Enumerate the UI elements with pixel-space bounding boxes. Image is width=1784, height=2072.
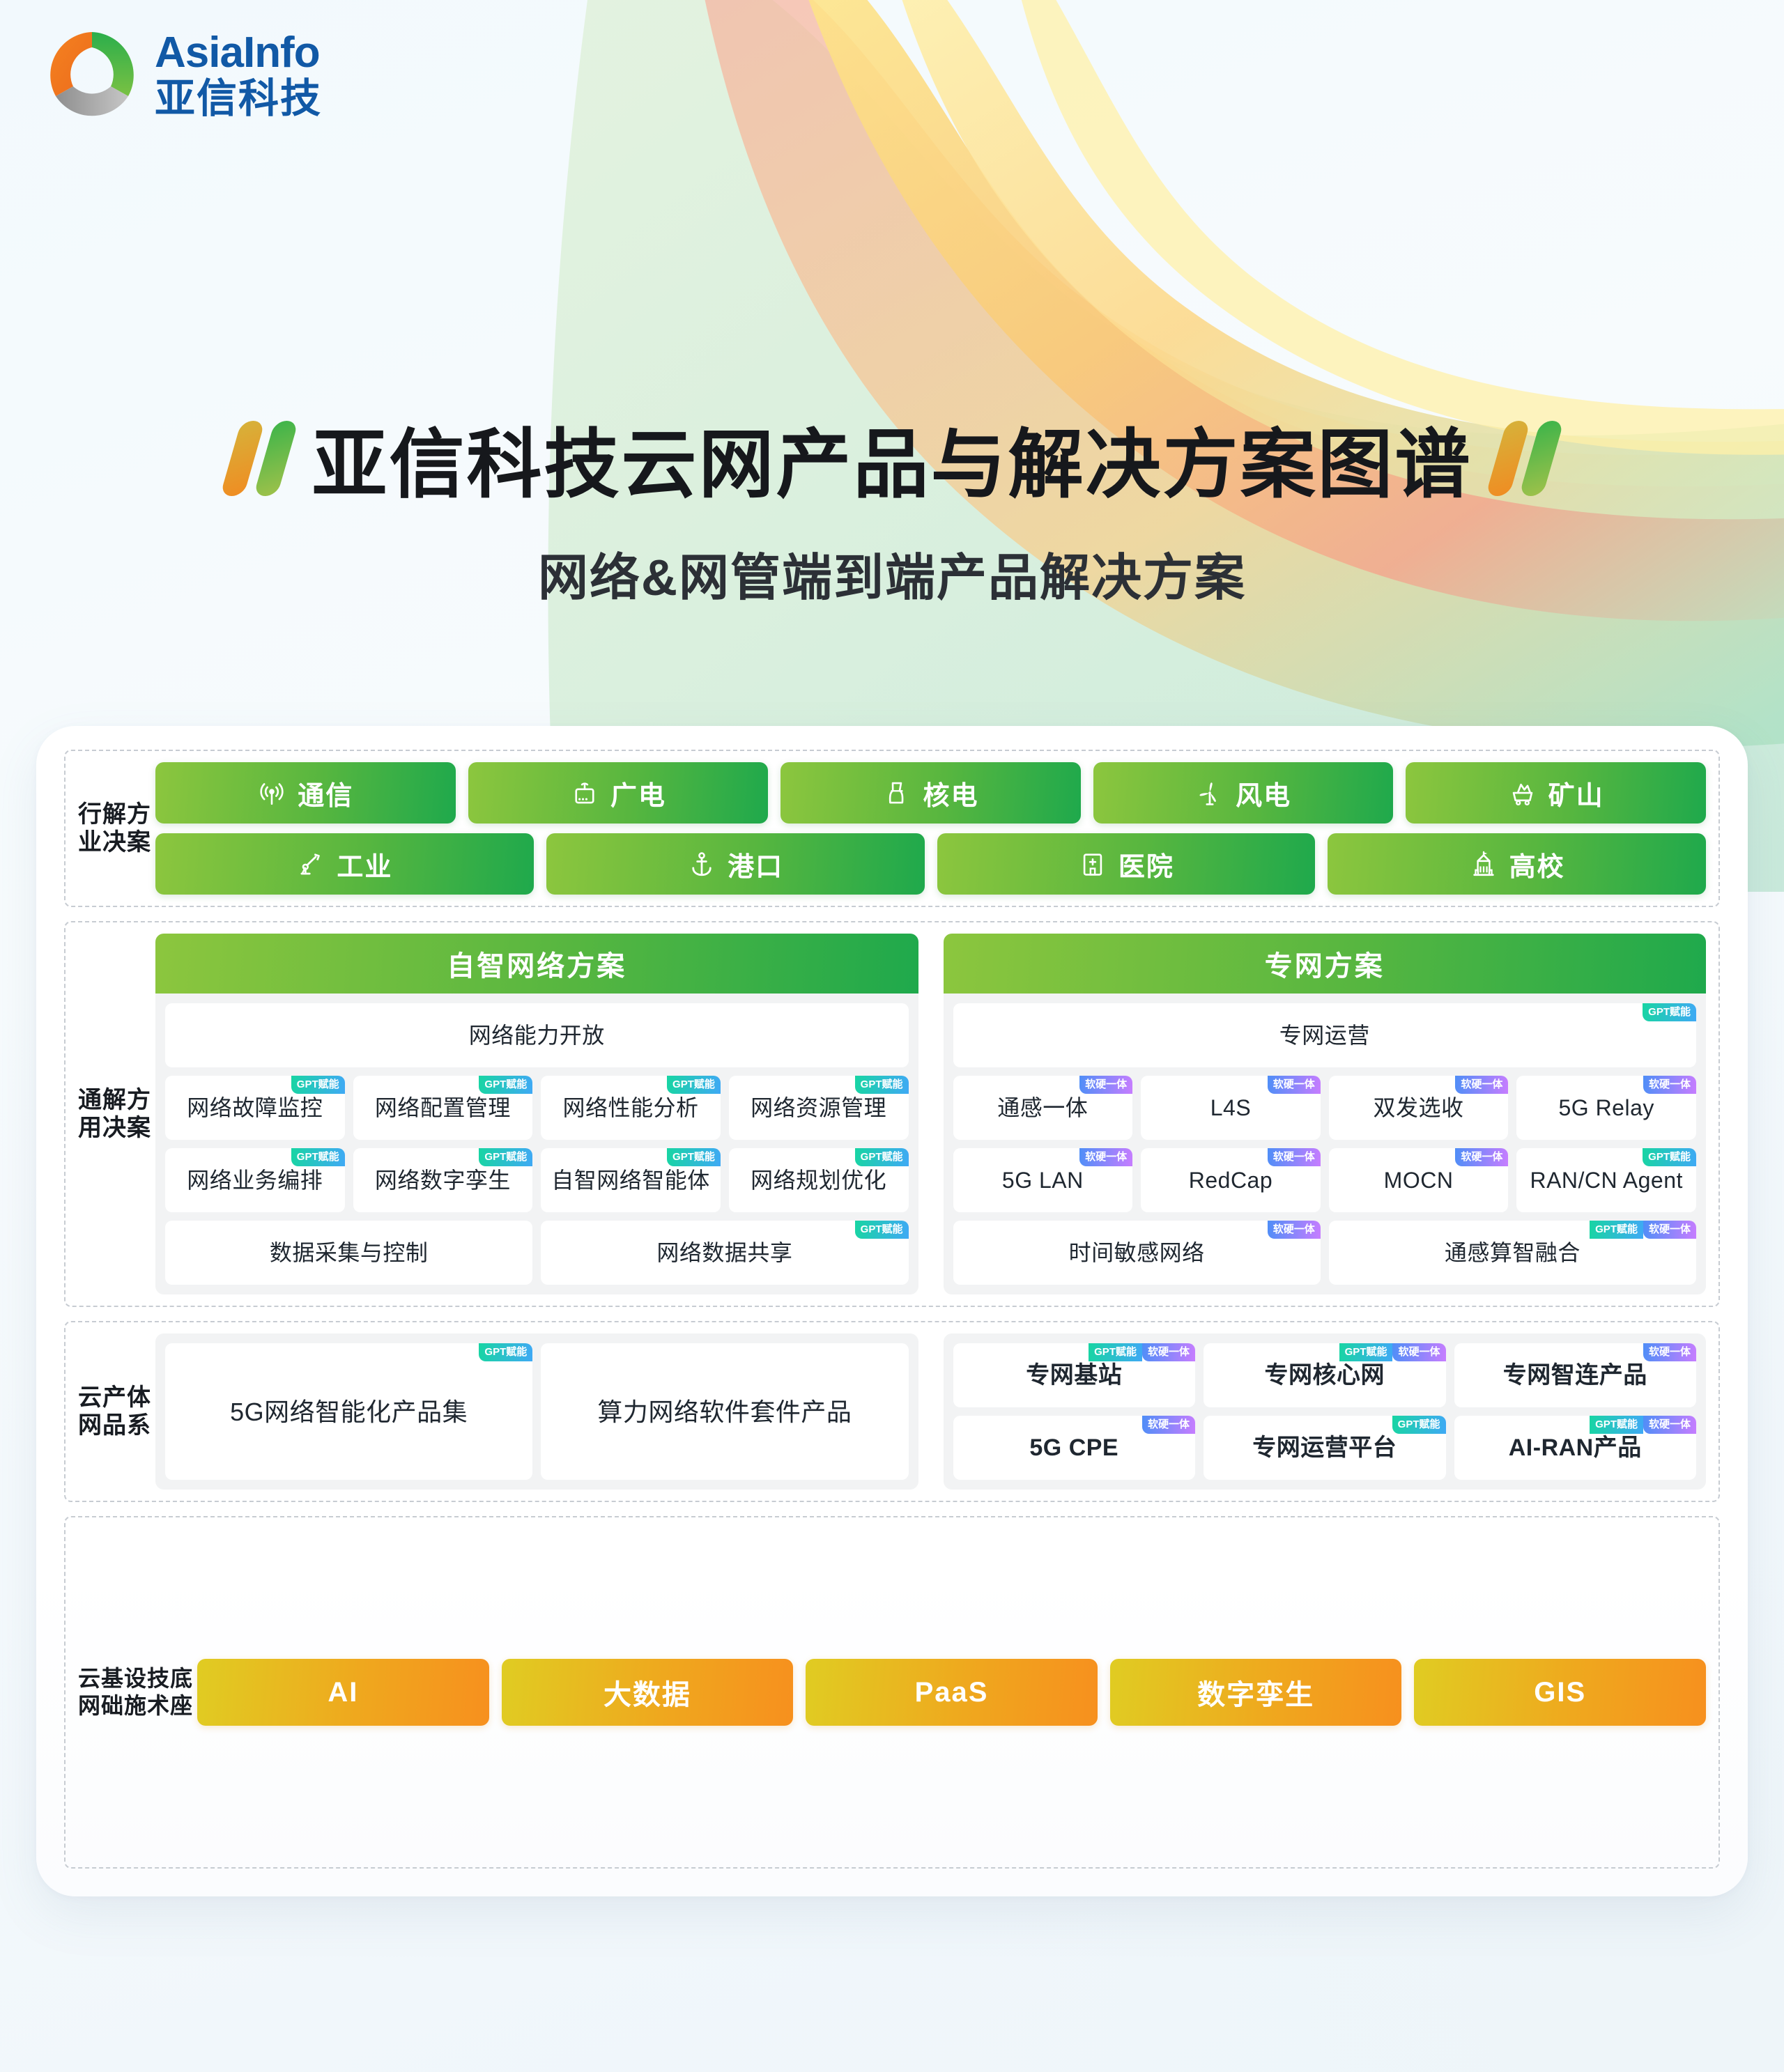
badge-group: GPT赋能软硬一体 xyxy=(1089,1343,1195,1361)
badge-group: GPT赋能 xyxy=(855,1148,909,1166)
solution-cell-label: 网络配置管理 xyxy=(375,1094,511,1122)
solution-cell[interactable]: GPT赋能网络故障监控 xyxy=(165,1076,345,1140)
badge-gpt: GPT赋能 xyxy=(855,1148,909,1166)
panel-title: 专网方案 xyxy=(944,934,1707,994)
badge-group: GPT赋能 xyxy=(667,1148,721,1166)
badge-hw: 软硬一体 xyxy=(1643,1343,1696,1361)
industry-card-核电[interactable]: 核电 xyxy=(780,762,1081,824)
infrastructure-card-label: GIS xyxy=(1534,1677,1586,1708)
badge-group: GPT赋能软硬一体 xyxy=(1590,1416,1696,1434)
badge-gpt: GPT赋能 xyxy=(1590,1221,1643,1239)
badge-group: GPT赋能 xyxy=(479,1076,532,1094)
industry-card-通信[interactable]: 通信 xyxy=(155,762,456,824)
solution-cell[interactable]: GPT赋能软硬一体专网核心网 xyxy=(1204,1343,1446,1407)
solution-cell[interactable]: 网络能力开放 xyxy=(165,1003,909,1067)
industry-card-广电[interactable]: 广电 xyxy=(468,762,769,824)
badge-gpt: GPT赋能 xyxy=(667,1148,721,1166)
infrastructure-card-label: AI xyxy=(328,1677,358,1708)
infrastructure-card-数字孪生[interactable]: 数字孪生 xyxy=(1110,1659,1402,1726)
infrastructure-card-label: 大数据 xyxy=(603,1672,691,1713)
solution-cell-label: 5G网络智能化产品集 xyxy=(230,1396,468,1428)
badge-gpt: GPT赋能 xyxy=(667,1076,721,1094)
badge-group: GPT赋能 xyxy=(291,1076,345,1094)
robot-arm-icon xyxy=(296,849,325,879)
panel-row: 软硬一体通感一体软硬一体L4S软硬一体双发选收软硬一体5G Relay xyxy=(953,1076,1697,1140)
solution-cell[interactable]: GPT赋能网络配置管理 xyxy=(353,1076,533,1140)
infrastructure-card-PaaS[interactable]: PaaS xyxy=(806,1659,1098,1726)
infrastructure-row: AI大数据PaaS数字孪生GIS xyxy=(197,1659,1706,1726)
solution-cell-label: 网络业务编排 xyxy=(187,1166,323,1194)
product-group-right: GPT赋能软硬一体专网基站GPT赋能软硬一体专网核心网软硬一体专网智连产品软硬一… xyxy=(944,1333,1707,1490)
infrastructure-card-label: 数字孪生 xyxy=(1197,1672,1314,1713)
asiainfo-logo-icon xyxy=(47,26,137,124)
section-label-line: 通用 xyxy=(78,1086,102,1142)
panel-row: GPT赋能专网运营 xyxy=(953,1003,1697,1067)
section-label-line: 产品 xyxy=(102,1384,127,1439)
cooling-tower-icon xyxy=(882,778,912,807)
badge-group: 软硬一体 xyxy=(1643,1343,1696,1361)
solution-cell[interactable]: GPT赋能软硬一体AI-RAN产品 xyxy=(1454,1416,1697,1480)
badge-gpt: GPT赋能 xyxy=(855,1076,909,1094)
badge-hw: 软硬一体 xyxy=(1455,1148,1508,1166)
badge-hw: 软硬一体 xyxy=(1142,1343,1195,1361)
badge-hw: 软硬一体 xyxy=(1643,1221,1696,1239)
solution-cell[interactable]: 软硬一体5G Relay xyxy=(1516,1076,1696,1140)
badge-hw: 软硬一体 xyxy=(1268,1148,1321,1166)
solution-panel: 自智网络方案网络能力开放GPT赋能网络故障监控GPT赋能网络配置管理GPT赋能网… xyxy=(155,934,918,1294)
diagram-board: 行业解决方案 通信广电核电风电矿山 工业港口医院高校 通用解决方案 自智网络方案… xyxy=(36,726,1748,1896)
solution-cell-label: 专网核心网 xyxy=(1265,1361,1385,1391)
section-label-product-system: 云网产品体系 xyxy=(78,1333,155,1490)
solution-cell[interactable]: GPT赋能网络业务编排 xyxy=(165,1148,345,1212)
page-subtitle: 网络&网管端到端产品解决方案 xyxy=(0,536,1784,610)
solution-cell-label: 网络能力开放 xyxy=(469,1021,605,1049)
hospital-icon xyxy=(1078,849,1107,879)
badge-hw: 软硬一体 xyxy=(1392,1343,1445,1361)
university-icon xyxy=(1469,849,1498,879)
wind-turbine-icon xyxy=(1195,778,1224,807)
badge-group: GPT赋能 xyxy=(479,1343,532,1361)
badge-hw: 软硬一体 xyxy=(1455,1076,1508,1094)
badge-group: 软硬一体 xyxy=(1643,1076,1696,1094)
badge-gpt: GPT赋能 xyxy=(1643,1003,1696,1021)
badge-group: GPT赋能 xyxy=(855,1076,909,1094)
industry-row-2: 工业港口医院高校 xyxy=(155,833,1706,895)
product-row: GPT赋能5G网络智能化产品集算力网络软件套件产品 xyxy=(165,1343,909,1480)
right-slash-decoration xyxy=(1496,421,1553,496)
badge-gpt: GPT赋能 xyxy=(291,1076,345,1094)
badge-gpt: GPT赋能 xyxy=(855,1221,909,1239)
solution-cell-label: 通感一体 xyxy=(997,1094,1088,1122)
badge-gpt: GPT赋能 xyxy=(1339,1343,1393,1361)
panel-row: GPT赋能网络业务编排GPT赋能网络数字孪生GPT赋能自智网络智能体GPT赋能网… xyxy=(165,1148,909,1212)
product-group-left: GPT赋能5G网络智能化产品集算力网络软件套件产品 xyxy=(155,1333,918,1490)
badge-hw: 软硬一体 xyxy=(1643,1416,1696,1434)
solution-cell-label: 网络规划优化 xyxy=(751,1166,886,1194)
solution-cell-label: RedCap xyxy=(1189,1166,1272,1194)
section-label-line: 体系 xyxy=(127,1384,151,1439)
general-solution-panels: 自智网络方案网络能力开放GPT赋能网络故障监控GPT赋能网络配置管理GPT赋能网… xyxy=(155,934,1706,1294)
section-label-general: 通用解决方案 xyxy=(78,934,155,1294)
badge-hw: 软硬一体 xyxy=(1079,1076,1132,1094)
badge-gpt: GPT赋能 xyxy=(1392,1416,1446,1434)
solution-cell[interactable]: GPT赋能自智网络智能体 xyxy=(541,1148,721,1212)
badge-group: 软硬一体 xyxy=(1142,1416,1195,1434)
badge-group: GPT赋能 xyxy=(667,1076,721,1094)
section-product-system: 云网产品体系 GPT赋能5G网络智能化产品集算力网络软件套件产品 GPT赋能软硬… xyxy=(64,1321,1720,1502)
solution-cell-label: RAN/CN Agent xyxy=(1530,1166,1682,1194)
badge-group: GPT赋能 xyxy=(1643,1003,1696,1021)
solution-cell[interactable]: 数据采集与控制 xyxy=(165,1221,532,1285)
solution-cell-label: 双发选收 xyxy=(1374,1094,1464,1122)
section-label-line: 技术 xyxy=(147,1665,170,1719)
solution-cell[interactable]: 软硬一体5G CPE xyxy=(953,1416,1196,1480)
solution-cell-label: 网络数据共享 xyxy=(656,1239,792,1267)
badge-group: 软硬一体 xyxy=(1455,1076,1508,1094)
badge-group: GPT赋能 xyxy=(291,1148,345,1166)
brand-name-cn: 亚信科技 xyxy=(155,79,322,119)
infographic-page: AsiaInfo 亚信科技 亚信科技云网产品与解决方案图谱 网络&网管端到端产品… xyxy=(0,0,1784,2072)
solution-cell[interactable]: GPT赋能专网运营 xyxy=(953,1003,1697,1067)
solution-cell-label: 通感算智融合 xyxy=(1445,1239,1581,1267)
solution-cell[interactable]: GPT赋能软硬一体通感算智融合 xyxy=(1329,1221,1696,1285)
badge-group: GPT赋能 xyxy=(479,1148,532,1166)
section-label-line: 云网 xyxy=(78,1384,102,1439)
badge-hw: 软硬一体 xyxy=(1268,1076,1321,1094)
solution-cell-label: 网络资源管理 xyxy=(751,1094,886,1122)
infrastructure-card-大数据[interactable]: 大数据 xyxy=(502,1659,794,1726)
badge-gpt: GPT赋能 xyxy=(1590,1416,1643,1434)
panel-row: 数据采集与控制GPT赋能网络数据共享 xyxy=(165,1221,909,1285)
badge-group: GPT赋能 xyxy=(1643,1148,1696,1166)
solution-cell[interactable]: 软硬一体通感一体 xyxy=(953,1076,1133,1140)
section-label-industry: 行业解决方案 xyxy=(78,762,155,895)
section-industry-solutions: 行业解决方案 通信广电核电风电矿山 工业港口医院高校 xyxy=(64,750,1720,907)
industry-card-label: 矿山 xyxy=(1548,774,1604,812)
industry-card-风电[interactable]: 风电 xyxy=(1093,762,1394,824)
section-label-line: 方案 xyxy=(127,801,151,856)
solution-cell-label: MOCN xyxy=(1384,1166,1454,1194)
badge-group: 软硬一体 xyxy=(1079,1148,1132,1166)
solution-cell[interactable]: GPT赋能软硬一体专网基站 xyxy=(953,1343,1196,1407)
panel-body: GPT赋能专网运营软硬一体通感一体软硬一体L4S软硬一体双发选收软硬一体5G R… xyxy=(944,994,1707,1294)
panel-row: 软硬一体5G LAN软硬一体RedCap软硬一体MOCNGPT赋能RAN/CN … xyxy=(953,1148,1697,1212)
industry-card-高校[interactable]: 高校 xyxy=(1328,833,1706,895)
solution-cell[interactable]: GPT赋能5G网络智能化产品集 xyxy=(165,1343,532,1480)
brand-name-en: AsiaInfo xyxy=(155,31,322,75)
broadcast-box-icon xyxy=(570,778,599,807)
badge-group: GPT赋能软硬一体 xyxy=(1590,1221,1696,1239)
solution-cell-label: 网络故障监控 xyxy=(187,1094,323,1122)
solution-cell[interactable]: 软硬一体RedCap xyxy=(1141,1148,1321,1212)
panel-body: 网络能力开放GPT赋能网络故障监控GPT赋能网络配置管理GPT赋能网络性能分析G… xyxy=(155,994,918,1294)
solution-cell[interactable]: GPT赋能网络规划优化 xyxy=(729,1148,909,1212)
badge-gpt: GPT赋能 xyxy=(479,1343,532,1361)
solution-cell-label: 专网基站 xyxy=(1026,1361,1122,1391)
signal-tower-icon xyxy=(257,778,286,807)
panel-row: 软硬一体时间敏感网络GPT赋能软硬一体通感算智融合 xyxy=(953,1221,1697,1285)
solution-cell[interactable]: 软硬一体时间敏感网络 xyxy=(953,1221,1321,1285)
industry-card-label: 高校 xyxy=(1509,845,1565,883)
infrastructure-card-label: PaaS xyxy=(915,1677,989,1708)
solution-cell[interactable]: 软硬一体专网智连产品 xyxy=(1454,1343,1697,1407)
badge-gpt: GPT赋能 xyxy=(479,1148,532,1166)
badge-hw: 软硬一体 xyxy=(1643,1076,1696,1094)
solution-cell-label: 5G LAN xyxy=(1002,1166,1084,1194)
badge-hw: 软硬一体 xyxy=(1079,1148,1132,1166)
left-slash-decoration xyxy=(231,421,288,496)
badge-gpt: GPT赋能 xyxy=(1643,1148,1696,1166)
solution-cell[interactable]: 算力网络软件套件产品 xyxy=(541,1343,908,1480)
badge-group: 软硬一体 xyxy=(1455,1148,1508,1166)
industry-card-港口[interactable]: 港口 xyxy=(546,833,925,895)
infrastructure-card-AI[interactable]: AI xyxy=(197,1659,489,1726)
solution-cell-label: L4S xyxy=(1210,1094,1251,1122)
industry-card-label: 工业 xyxy=(337,845,392,883)
panel-title: 自智网络方案 xyxy=(155,934,918,994)
section-label-line: 基础 xyxy=(101,1665,124,1719)
section-infrastructure: 云网基础设施技术底座 AI大数据PaaS数字孪生GIS xyxy=(64,1516,1720,1869)
solution-cell-label: 网络数字孪生 xyxy=(375,1166,511,1194)
solution-cell[interactable]: GPT赋能RAN/CN Agent xyxy=(1516,1148,1696,1212)
brand-logo: AsiaInfo 亚信科技 xyxy=(47,26,322,124)
badge-group: GPT赋能 xyxy=(855,1221,909,1239)
industry-card-label: 通信 xyxy=(298,774,353,812)
title-block: 亚信科技云网产品与解决方案图谱 网络&网管端到端产品解决方案 xyxy=(0,404,1784,610)
product-row: GPT赋能软硬一体专网基站GPT赋能软硬一体专网核心网软硬一体专网智连产品 xyxy=(953,1343,1697,1407)
solution-cell-label: 专网运营 xyxy=(1279,1021,1370,1049)
solution-cell-label: 5G Relay xyxy=(1558,1094,1654,1122)
section-label-line: 解决 xyxy=(102,1086,127,1142)
section-label-line: 底座 xyxy=(170,1665,193,1719)
solution-cell[interactable]: GPT赋能网络数字孪生 xyxy=(353,1148,533,1212)
industry-card-label: 广电 xyxy=(610,774,666,812)
infrastructure-card-GIS[interactable]: GIS xyxy=(1414,1659,1706,1726)
industry-card-label: 港口 xyxy=(728,845,783,883)
section-label-line: 行业 xyxy=(78,801,102,856)
industry-card-矿山[interactable]: 矿山 xyxy=(1406,762,1706,824)
badge-group: 软硬一体 xyxy=(1079,1076,1132,1094)
badge-hw: 软硬一体 xyxy=(1268,1221,1321,1239)
badge-hw: 软硬一体 xyxy=(1142,1416,1195,1434)
badge-gpt: GPT赋能 xyxy=(1089,1343,1142,1361)
badge-group: GPT赋能软硬一体 xyxy=(1339,1343,1446,1361)
section-general-solutions: 通用解决方案 自智网络方案网络能力开放GPT赋能网络故障监控GPT赋能网络配置管… xyxy=(64,921,1720,1307)
solution-cell[interactable]: GPT赋能网络数据共享 xyxy=(541,1221,908,1285)
section-label-line: 方案 xyxy=(127,1086,151,1142)
section-label-line: 云网 xyxy=(78,1665,101,1719)
section-label-infrastructure: 云网基础设施技术底座 xyxy=(78,1529,197,1856)
mine-cart-icon xyxy=(1508,778,1537,807)
solution-cell-label: AI-RAN产品 xyxy=(1509,1433,1642,1463)
section-label-line: 解决 xyxy=(102,801,127,856)
solution-cell-label: 专网运营平台 xyxy=(1252,1433,1397,1463)
badge-group: 软硬一体 xyxy=(1268,1221,1321,1239)
industry-card-医院[interactable]: 医院 xyxy=(937,833,1316,895)
badge-gpt: GPT赋能 xyxy=(291,1148,345,1166)
solution-cell[interactable]: 软硬一体MOCN xyxy=(1329,1148,1509,1212)
solution-cell[interactable]: 软硬一体双发选收 xyxy=(1329,1076,1509,1140)
industry-card-label: 医院 xyxy=(1118,845,1174,883)
solution-cell[interactable]: GPT赋能网络性能分析 xyxy=(541,1076,721,1140)
solution-cell-label: 专网智连产品 xyxy=(1503,1361,1647,1391)
solution-cell-label: 网络性能分析 xyxy=(563,1094,699,1122)
industry-card-工业[interactable]: 工业 xyxy=(155,833,534,895)
industry-card-label: 核电 xyxy=(923,774,978,812)
panel-row: 网络能力开放 xyxy=(165,1003,909,1067)
solution-cell[interactable]: GPT赋能专网运营平台 xyxy=(1204,1416,1446,1480)
badge-gpt: GPT赋能 xyxy=(479,1076,532,1094)
anchor-icon xyxy=(687,849,716,879)
solution-cell-label: 数据采集与控制 xyxy=(270,1239,429,1267)
solution-cell-label: 算力网络软件套件产品 xyxy=(597,1396,852,1428)
product-row: 软硬一体5G CPEGPT赋能专网运营平台GPT赋能软硬一体AI-RAN产品 xyxy=(953,1416,1697,1480)
solution-cell[interactable]: 软硬一体L4S xyxy=(1141,1076,1321,1140)
page-title: 亚信科技云网产品与解决方案图谱 xyxy=(312,404,1472,513)
panel-row: GPT赋能网络故障监控GPT赋能网络配置管理GPT赋能网络性能分析GPT赋能网络… xyxy=(165,1076,909,1140)
badge-group: 软硬一体 xyxy=(1268,1076,1321,1094)
solution-cell-label: 5G CPE xyxy=(1029,1433,1118,1463)
solution-cell[interactable]: GPT赋能网络资源管理 xyxy=(729,1076,909,1140)
badge-group: 软硬一体 xyxy=(1268,1148,1321,1166)
industry-card-label: 风电 xyxy=(1236,774,1291,812)
solution-panel: 专网方案GPT赋能专网运营软硬一体通感一体软硬一体L4S软硬一体双发选收软硬一体… xyxy=(944,934,1707,1294)
solution-cell[interactable]: 软硬一体5G LAN xyxy=(953,1148,1133,1212)
industry-row-1: 通信广电核电风电矿山 xyxy=(155,762,1706,824)
solution-cell-label: 自智网络智能体 xyxy=(551,1166,710,1194)
badge-group: GPT赋能 xyxy=(1392,1416,1446,1434)
solution-cell-label: 时间敏感网络 xyxy=(1069,1239,1205,1267)
section-label-line: 设施 xyxy=(124,1665,147,1719)
